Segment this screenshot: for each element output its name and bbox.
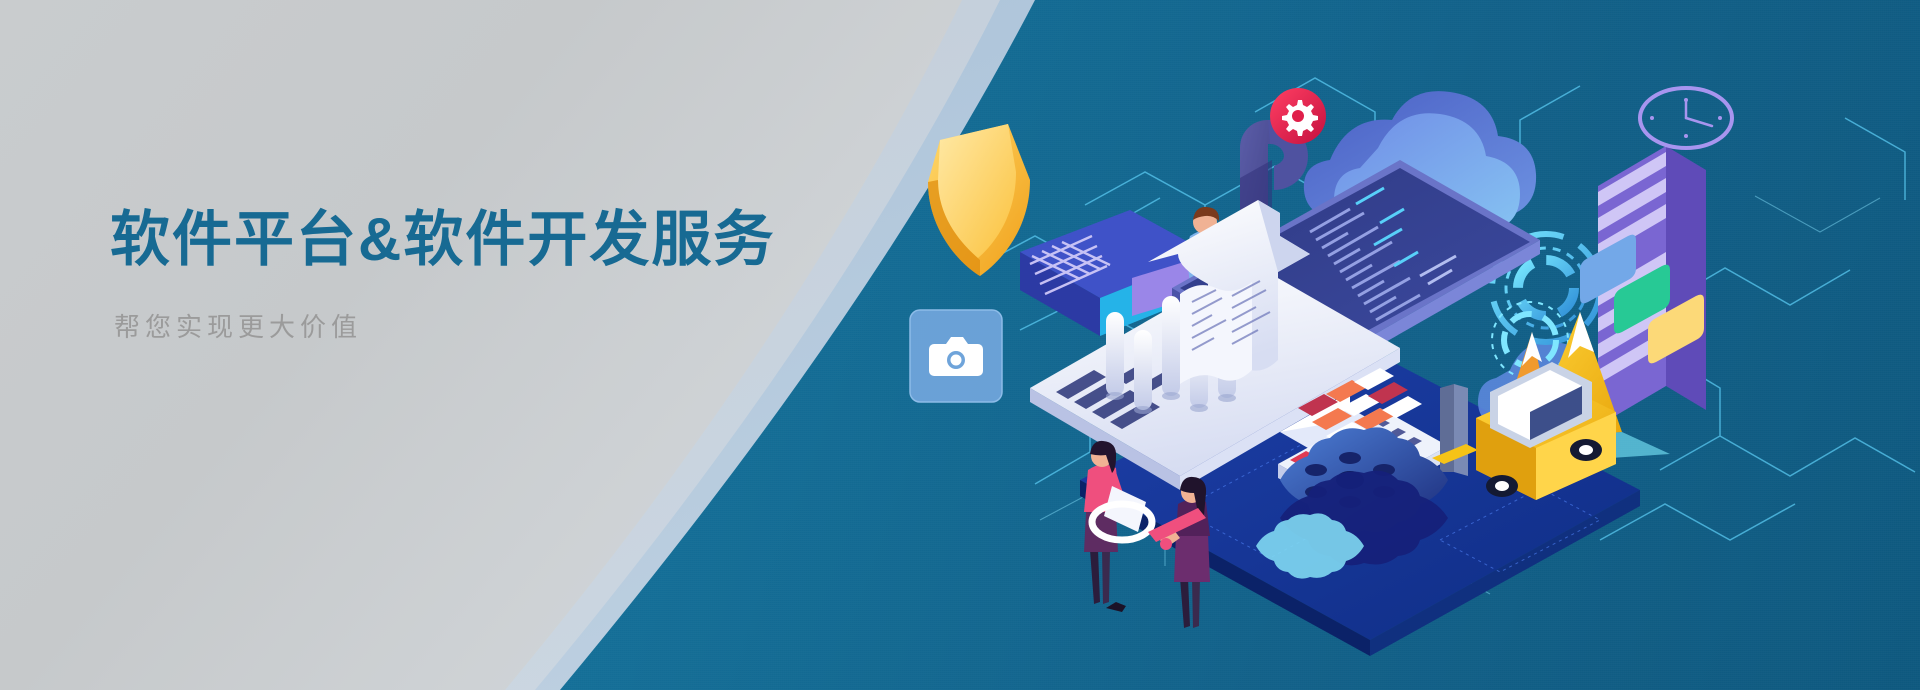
- page-subtitle: 帮您实现更大价值: [114, 307, 870, 344]
- gear-badge-icon: [1270, 88, 1326, 144]
- clock-icon: [1640, 88, 1732, 148]
- hero-banner: 软件平台&软件开发服务 帮您实现更大价值: [0, 0, 1920, 690]
- camera-icon-card: [910, 310, 1002, 402]
- page-title: 软件平台&软件开发服务: [110, 206, 870, 273]
- hero-copy: 软件平台&软件开发服务 帮您实现更大价值: [110, 206, 870, 344]
- hero-illustration: [880, 40, 1920, 660]
- security-shield-icon: [928, 124, 1030, 276]
